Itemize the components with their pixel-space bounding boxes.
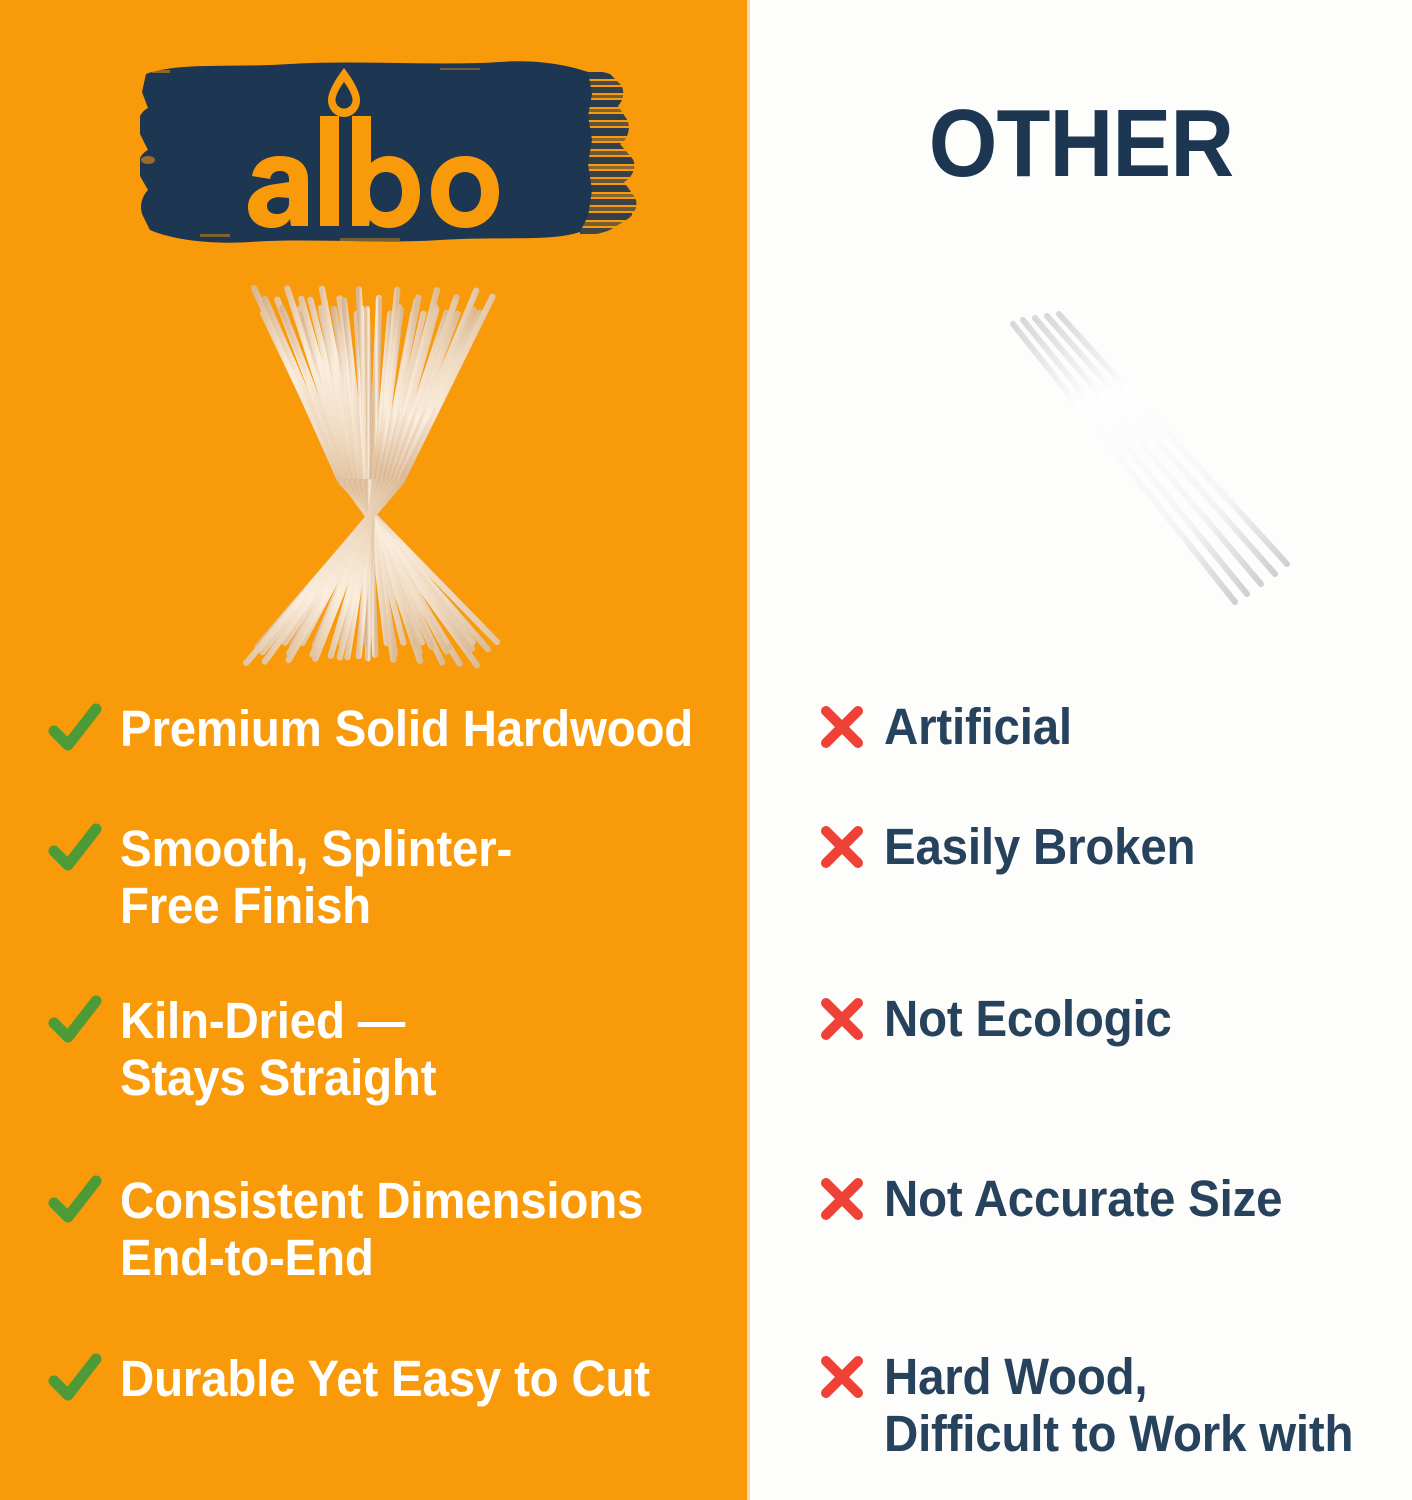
check-icon (48, 702, 102, 756)
list-item: Artificial (818, 698, 1086, 755)
cross-icon (818, 703, 866, 751)
list-item: Hard Wood, Difficult to Work with (818, 1348, 1389, 1462)
list-item-label: Consistent Dimensions End-to-End (120, 1172, 643, 1286)
cross-icon (818, 1353, 866, 1401)
list-item: Smooth, Splinter- Free Finish (48, 820, 542, 934)
list-item: Kiln-Dried — Stays Straight (48, 992, 460, 1106)
list-item-label: Smooth, Splinter- Free Finish (120, 820, 512, 934)
list-item: Durable Yet Easy to Cut (48, 1350, 690, 1407)
list-item: Not Ecologic (818, 990, 1193, 1047)
other-heading: OTHER (776, 96, 1385, 192)
wooden-sticks-bundle-image (236, 282, 506, 672)
list-item-label: Kiln-Dried — Stays Straight (120, 992, 436, 1106)
brand-logo-banner (140, 48, 680, 260)
cross-icon (818, 995, 866, 1043)
list-item-label: Not Accurate Size (884, 1170, 1282, 1227)
list-item: Consistent Dimensions End-to-End (48, 1172, 683, 1286)
check-icon (48, 994, 102, 1048)
list-item-label: Artificial (884, 698, 1072, 755)
list-item-label: Hard Wood, Difficult to Work with (884, 1348, 1353, 1462)
cross-icon (818, 823, 866, 871)
check-icon (48, 822, 102, 876)
list-item: Premium Solid Hardwood (48, 700, 736, 757)
cross-icon (818, 1175, 866, 1223)
list-item: Easily Broken (818, 818, 1219, 875)
check-icon (48, 1174, 102, 1228)
list-item: Not Accurate Size (818, 1170, 1312, 1227)
white-plastic-sticks-image (895, 272, 1325, 672)
comparison-infographic: OTHER (0, 0, 1412, 1500)
list-item-label: Premium Solid Hardwood (120, 700, 693, 757)
check-icon (48, 1352, 102, 1406)
list-item-label: Not Ecologic (884, 990, 1172, 1047)
list-item-label: Durable Yet Easy to Cut (120, 1350, 650, 1407)
list-item-label: Easily Broken (884, 818, 1195, 875)
